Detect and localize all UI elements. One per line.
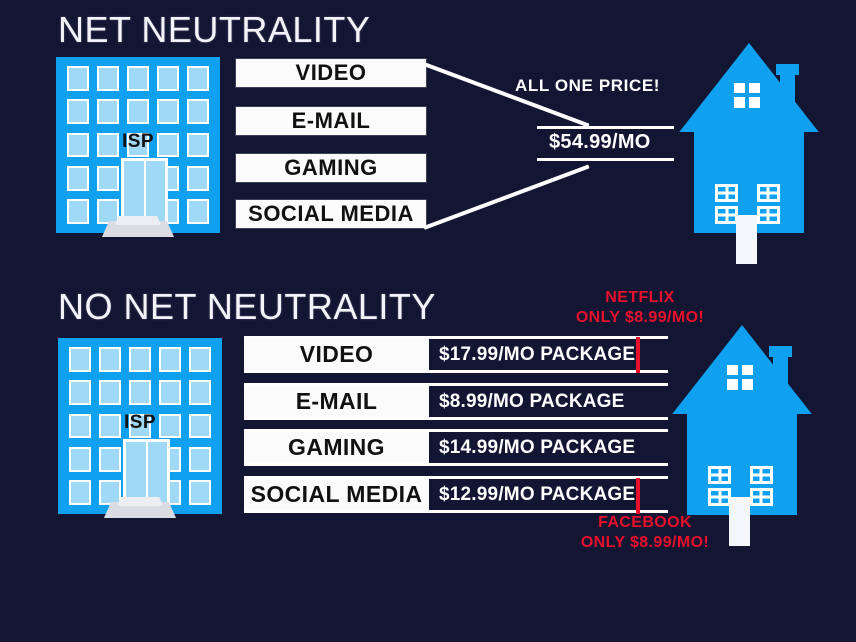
house-chimney-cap xyxy=(769,346,791,357)
isp-building-top: ISP xyxy=(56,57,220,233)
isp-window xyxy=(69,380,91,405)
bundle-price: $54.99/MO xyxy=(549,131,651,154)
row-rule-email-bottom xyxy=(244,417,668,420)
house-chimney-cap xyxy=(776,64,798,75)
price-rule-top xyxy=(537,126,674,129)
package-label-social-media[interactable]: SOCIAL MEDIA xyxy=(244,479,429,510)
isp-window xyxy=(99,447,121,472)
isp-window xyxy=(129,347,151,372)
package-label-email[interactable]: E-MAIL xyxy=(244,386,429,417)
isp-window xyxy=(67,166,89,191)
package-label-video[interactable]: VIDEO xyxy=(244,339,429,370)
isp-window xyxy=(189,447,211,472)
house-door xyxy=(729,497,750,546)
isp-label: ISP xyxy=(56,131,220,153)
house-window xyxy=(750,466,773,484)
isp-window xyxy=(187,199,209,224)
package-price-social-media: $12.99/MO PACKAGE xyxy=(429,479,634,510)
house-window xyxy=(757,206,780,224)
service-label-email[interactable]: E-MAIL xyxy=(236,107,426,135)
red-tick-social-media xyxy=(636,478,640,514)
isp-window xyxy=(69,480,91,505)
house-window xyxy=(750,488,773,506)
isp-window xyxy=(189,380,211,405)
isp-window xyxy=(99,480,121,505)
isp-window xyxy=(129,380,151,405)
isp-window xyxy=(157,66,179,91)
isp-window xyxy=(97,199,119,224)
page-title-no-net-neutrality: NO NET NEUTRALITY xyxy=(58,286,436,328)
house-attic-window xyxy=(734,83,761,108)
isp-window xyxy=(67,66,89,91)
all-one-price-caption: ALL ONE PRICE! xyxy=(515,76,660,96)
package-price-video: $17.99/MO PACKAGE xyxy=(429,339,634,370)
red-tick-video xyxy=(636,337,640,373)
isp-window xyxy=(127,99,149,124)
service-label-video[interactable]: VIDEO xyxy=(236,59,426,87)
isp-window xyxy=(67,199,89,224)
isp-window xyxy=(99,380,121,405)
price-rule-bottom xyxy=(537,158,674,161)
isp-label: ISP xyxy=(58,412,222,434)
isp-window xyxy=(97,66,119,91)
isp-window xyxy=(99,347,121,372)
house-top xyxy=(679,43,819,233)
service-label-social-media[interactable]: SOCIAL MEDIA xyxy=(236,200,426,228)
isp-window xyxy=(97,166,119,191)
note-facebook-line2: ONLY $8.99/MO! xyxy=(550,533,740,553)
isp-window xyxy=(97,99,119,124)
isp-window xyxy=(127,66,149,91)
isp-window xyxy=(157,99,179,124)
house-window xyxy=(715,184,738,202)
isp-window xyxy=(67,99,89,124)
note-facebook-line1: FACEBOOK xyxy=(550,513,740,533)
note-netflix-line1: NETFLIX xyxy=(545,288,735,308)
house-bottom xyxy=(672,325,812,515)
row-rule-gaming-bottom xyxy=(244,463,668,466)
package-label-gaming[interactable]: GAMING xyxy=(244,432,429,463)
note-netflix: NETFLIX ONLY $8.99/MO! xyxy=(545,288,735,328)
note-facebook: FACEBOOK ONLY $8.99/MO! xyxy=(550,513,740,553)
house-attic-window xyxy=(727,365,754,390)
house-window xyxy=(708,488,731,506)
isp-window xyxy=(187,66,209,91)
package-price-email: $8.99/MO PACKAGE xyxy=(429,386,634,417)
house-window xyxy=(757,184,780,202)
row-rule-video-bottom xyxy=(244,370,668,373)
house-door xyxy=(736,215,757,264)
house-chimney xyxy=(780,68,795,125)
house-window xyxy=(715,206,738,224)
isp-window xyxy=(187,166,209,191)
funnel-line-lower xyxy=(423,164,589,229)
isp-window xyxy=(187,99,209,124)
service-label-gaming[interactable]: GAMING xyxy=(236,154,426,182)
isp-building-bottom: ISP xyxy=(58,338,222,514)
infographic-canvas: NET NEUTRALITY xyxy=(0,0,856,642)
package-price-gaming: $14.99/MO PACKAGE xyxy=(429,432,634,463)
isp-steps-upper xyxy=(115,216,161,225)
house-window xyxy=(708,466,731,484)
isp-window xyxy=(189,347,211,372)
page-title-net-neutrality: NET NEUTRALITY xyxy=(58,9,370,51)
isp-window xyxy=(189,480,211,505)
house-chimney xyxy=(773,350,788,407)
isp-window xyxy=(69,347,91,372)
isp-steps-upper xyxy=(117,497,163,506)
isp-window xyxy=(159,347,181,372)
isp-window xyxy=(159,380,181,405)
isp-window xyxy=(69,447,91,472)
